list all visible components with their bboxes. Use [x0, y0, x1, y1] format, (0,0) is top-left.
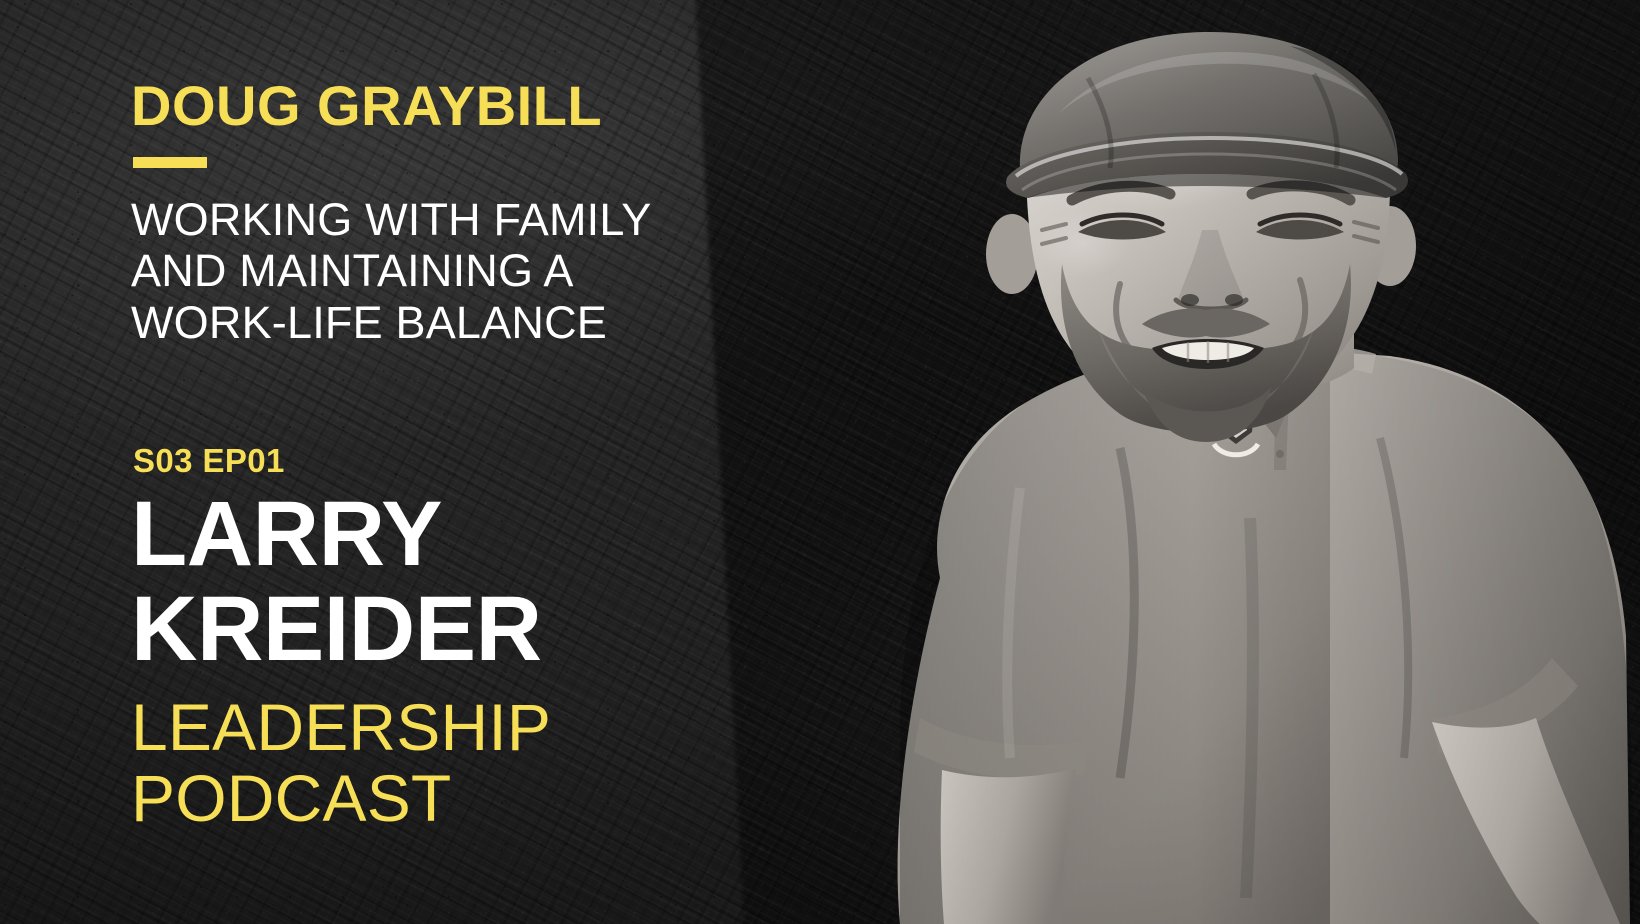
host-last-name: KREIDER — [131, 582, 861, 677]
show-name-line-1: LEADERSHIP — [131, 692, 861, 763]
show-name: LEADERSHIP PODCAST — [131, 692, 861, 833]
guest-name: DOUG GRAYBILL — [131, 78, 861, 134]
podcast-cover-graphic: DOUG GRAYBILL WORKING WITH FAMILY AND MA… — [0, 0, 1640, 924]
episode-title-line-1: WORKING WITH FAMILY — [131, 194, 861, 245]
episode-title-line-2: AND MAINTAINING A — [131, 245, 861, 296]
host-name: LARRY KREIDER — [131, 487, 861, 677]
season-episode-label: S03 EP01 — [133, 444, 861, 477]
cover-text-block: DOUG GRAYBILL WORKING WITH FAMILY AND MA… — [131, 78, 861, 834]
episode-title: WORKING WITH FAMILY AND MAINTAINING A WO… — [131, 194, 861, 348]
guest-torso — [898, 345, 1634, 924]
accent-rule — [133, 157, 207, 168]
episode-title-line-3: WORK-LIFE BALANCE — [131, 297, 861, 348]
guest-flat-cap — [1006, 32, 1408, 198]
show-name-line-2: PODCAST — [131, 763, 861, 834]
host-first-name: LARRY — [131, 487, 861, 582]
